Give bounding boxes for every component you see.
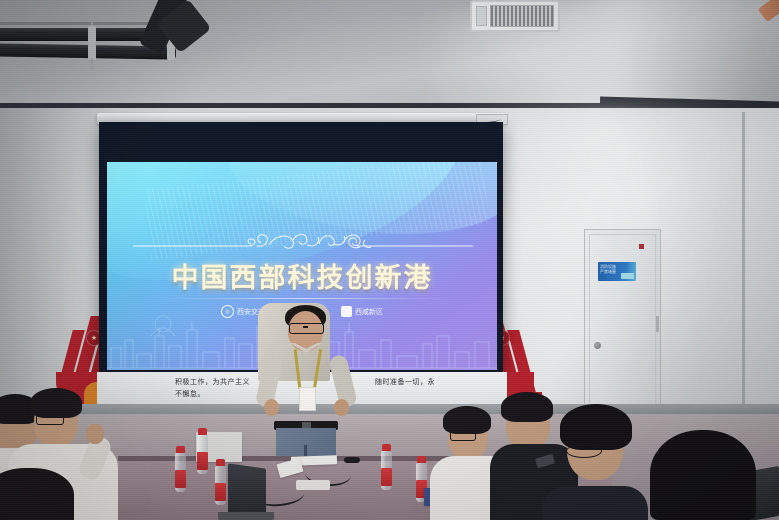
bottle-cap	[176, 446, 185, 453]
water-bottle[interactable]	[215, 465, 226, 505]
bottle-label	[197, 452, 208, 470]
wall-corner	[742, 112, 745, 412]
pipe-hanger-1	[91, 8, 93, 26]
microphone[interactable]	[344, 457, 360, 463]
glasses-icon	[289, 323, 324, 334]
bottle-label	[215, 483, 226, 501]
id-badge	[299, 387, 316, 411]
attendee-hair	[650, 430, 756, 520]
banner-text-block-right: 随时准备一切，永	[375, 376, 495, 388]
glasses-icon	[36, 414, 64, 425]
laptop-base	[218, 512, 274, 520]
slide-flourish-ornament	[131, 228, 475, 250]
attendee-hair	[0, 468, 74, 520]
banner-line-3: 随时准备一切，永	[375, 376, 495, 388]
pipe-clamp-1	[88, 26, 96, 44]
glasses-icon	[450, 430, 476, 441]
door-warning-sign: 消防设施 严禁堵塞	[598, 262, 636, 281]
bottle-cap	[198, 428, 207, 435]
door-hinge	[656, 316, 659, 332]
water-bottle[interactable]	[175, 452, 186, 492]
door-knob[interactable]	[594, 342, 601, 349]
bottle-cap	[417, 456, 426, 463]
bottle-label	[381, 468, 392, 486]
slide-title: 中国西部科技创新港	[107, 256, 497, 295]
glasses-icon	[566, 444, 602, 458]
attendee-hair	[501, 392, 553, 422]
water-bottle[interactable]	[197, 434, 208, 474]
bottle-cap	[382, 444, 391, 451]
slide-divider	[155, 298, 451, 299]
door-latch-icon	[639, 244, 644, 249]
attendee-hand	[86, 424, 104, 444]
classroom-photo-scene: ★ ★	[0, 0, 779, 520]
presenter-right-hand	[334, 399, 349, 416]
ac-vent-grille	[490, 5, 554, 27]
presenter-left-hand	[264, 399, 279, 416]
ac-vent-slot	[476, 6, 487, 26]
bottle-cap	[216, 459, 225, 466]
water-bottle[interactable]	[381, 450, 392, 490]
attendee-hair	[560, 404, 632, 450]
service-door[interactable]: 消防设施 严禁堵塞	[584, 229, 661, 427]
door-sign-tag	[621, 273, 634, 279]
air-conditioner-vent	[470, 0, 560, 32]
attendee-torso	[542, 486, 648, 520]
pipe-hanger-2	[91, 58, 93, 70]
bottle-label	[175, 470, 186, 488]
